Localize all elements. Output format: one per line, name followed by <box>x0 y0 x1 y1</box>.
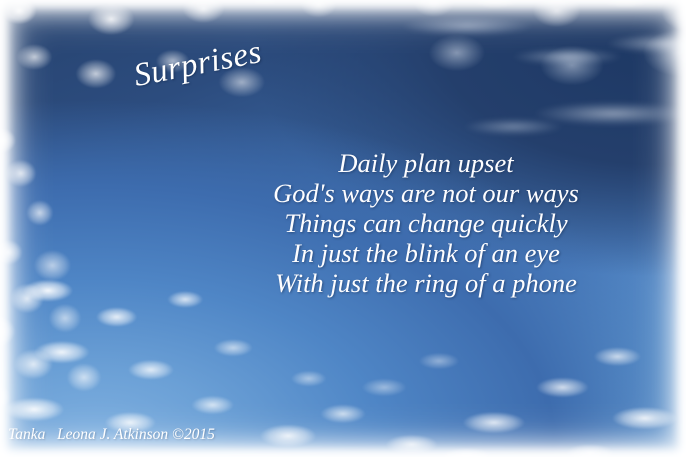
poem-line-4: In just the blink of an eye <box>228 238 624 268</box>
poem-line-2: God's ways are not our ways <box>228 178 624 208</box>
poem-line-3: Things can change quickly <box>228 208 624 238</box>
poem-line-5: With just the ring of a phone <box>228 268 624 298</box>
credit-line: Tanka Leona J. Atkinson ©2015 <box>8 426 215 444</box>
poem-body: Daily plan upset God's ways are not our … <box>228 148 624 298</box>
poem-poster: Surprises Daily plan upset God's ways ar… <box>0 0 686 457</box>
poem-line-1: Daily plan upset <box>228 148 624 178</box>
